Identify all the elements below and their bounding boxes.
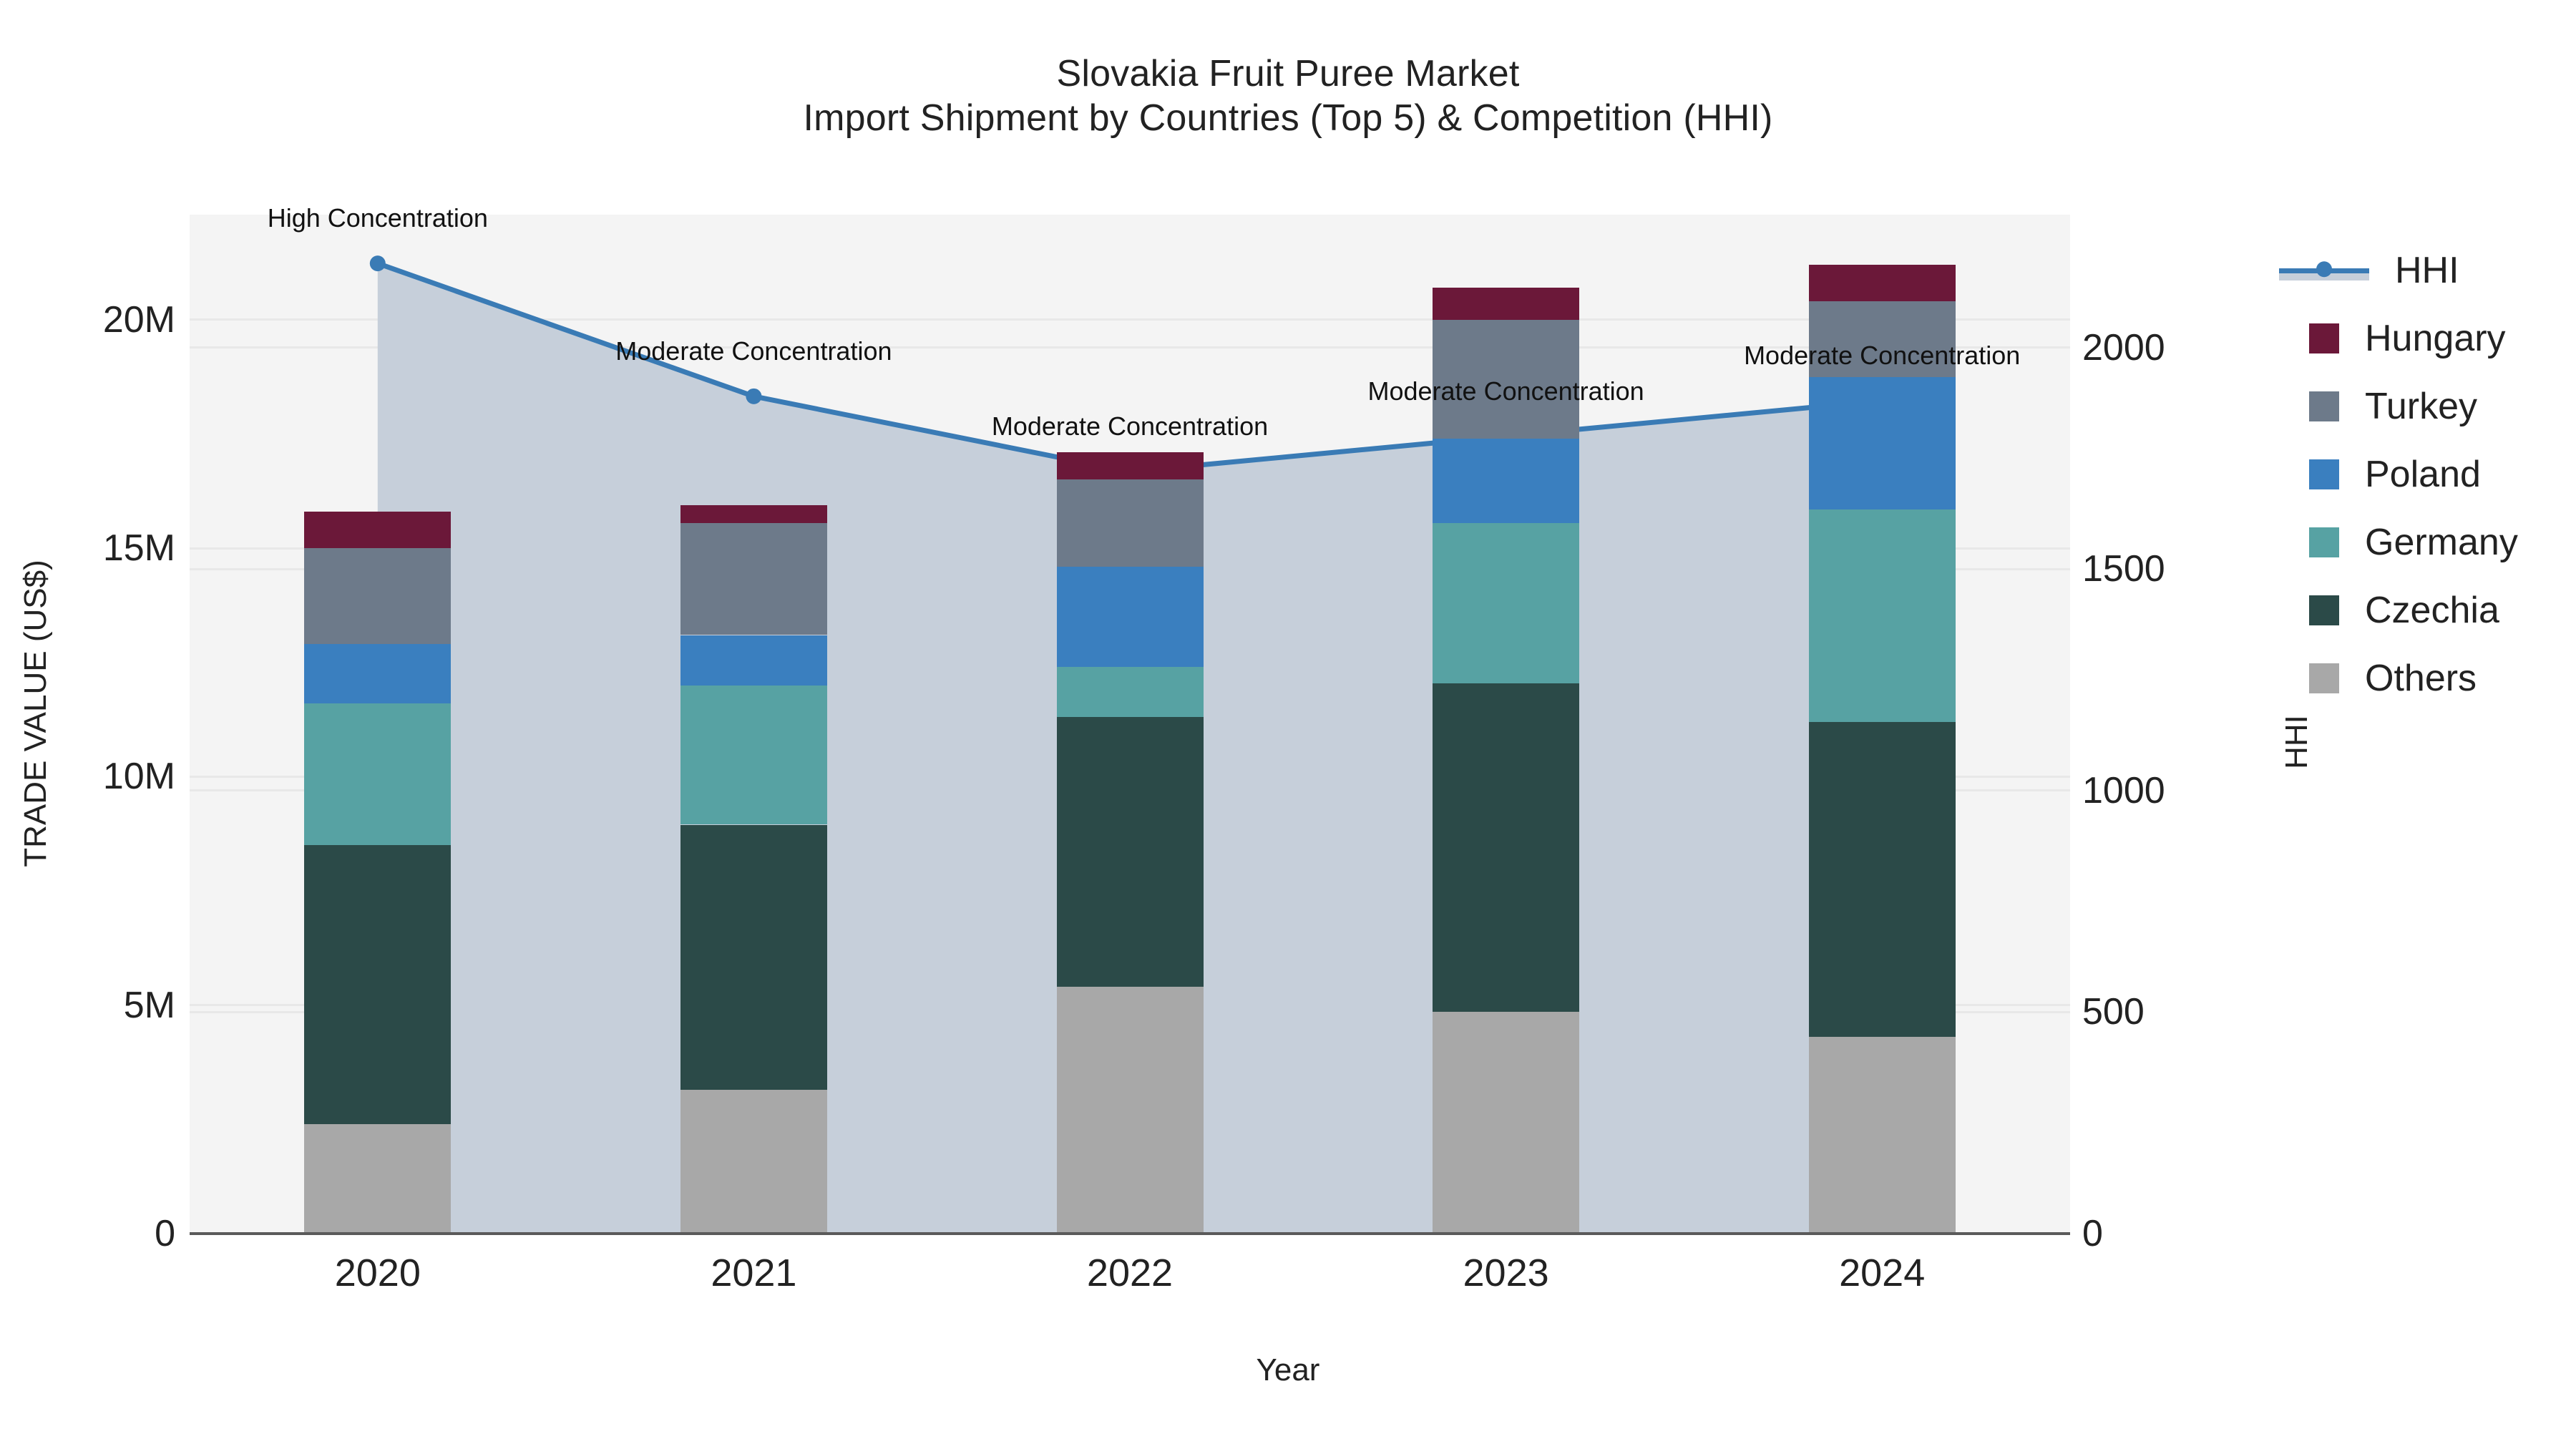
bar-stack-2022[interactable] [1057,215,1204,1234]
bar-segment-poland-2024[interactable] [1809,377,1956,509]
legend-label-poland: Poland [2365,456,2481,493]
x-tick-2021: 2021 [711,1251,796,1295]
y-tick-right-1000: 1000 [2082,769,2165,812]
bar-segment-czechia-2020[interactable] [304,845,451,1124]
bar-segment-germany-2022[interactable] [1057,667,1204,717]
bar-segment-czechia-2021[interactable] [680,825,827,1090]
x-tick-2024: 2024 [1839,1251,1925,1295]
bar-segment-poland-2021[interactable] [680,635,827,686]
bar-segment-czechia-2022[interactable] [1057,717,1204,987]
y-tick-right-500: 500 [2082,990,2145,1033]
y-tick-left-5M: 5M [124,984,175,1027]
bar-stack-2021[interactable] [680,215,827,1234]
bar-segment-poland-2022[interactable] [1057,567,1204,667]
y-axis-left-title: TRADE VALUE (US$) [18,492,54,935]
annotation-2023: Moderate Concentration [1367,376,1644,406]
legend-label-czechia: Czechia [2365,592,2499,629]
bar-segment-poland-2023[interactable] [1433,439,1579,523]
bar-segment-hungary-2020[interactable] [304,512,451,548]
bar-stack-2020[interactable] [304,215,451,1234]
x-tick-2023: 2023 [1463,1251,1549,1295]
chart-title-line-2: Import Shipment by Countries (Top 5) & C… [0,96,2576,140]
legend: HHIHungaryTurkeyPolandGermanyCzechiaOthe… [2279,236,2518,712]
legend-item-turkey[interactable]: Turkey [2279,372,2518,440]
bar-segment-poland-2020[interactable] [304,644,451,703]
x-axis-line [190,1232,2070,1235]
annotation-2024: Moderate Concentration [1744,341,2020,371]
bar-segment-turkey-2021[interactable] [680,523,827,635]
y-tick-right-2000: 2000 [2082,326,2165,369]
y-tick-left-0: 0 [155,1212,175,1255]
bar-segment-others-2023[interactable] [1433,1012,1579,1234]
bar-segment-others-2021[interactable] [680,1090,827,1234]
bar-segment-hungary-2021[interactable] [680,505,827,524]
legend-item-hungary[interactable]: Hungary [2279,304,2518,372]
x-axis-title: Year [0,1352,2576,1388]
bar-segment-germany-2023[interactable] [1433,523,1579,683]
legend-swatch-others-icon [2309,663,2339,693]
annotation-2020: High Concentration [268,203,488,233]
y-tick-left-15M: 15M [103,527,175,570]
bar-segment-others-2024[interactable] [1809,1037,1956,1234]
bar-segment-czechia-2023[interactable] [1433,683,1579,1013]
bar-segment-others-2022[interactable] [1057,987,1204,1234]
bar-segment-czechia-2024[interactable] [1809,722,1956,1038]
annotation-2022: Moderate Concentration [992,411,1268,441]
legend-item-others[interactable]: Others [2279,644,2518,712]
y-tick-right-0: 0 [2082,1212,2103,1255]
bar-segment-hungary-2024[interactable] [1809,265,1956,301]
bar-segment-germany-2024[interactable] [1809,509,1956,722]
bar-segment-turkey-2022[interactable] [1057,479,1204,566]
legend-label-hhi: HHI [2395,252,2459,289]
y-tick-right-1500: 1500 [2082,547,2165,590]
legend-label-others: Others [2365,660,2477,697]
legend-swatch-poland-icon [2309,459,2339,489]
bar-segment-others-2020[interactable] [304,1124,451,1234]
legend-label-germany: Germany [2365,524,2518,561]
legend-swatch-germany-icon [2309,527,2339,557]
annotation-2021: Moderate Concentration [615,336,892,366]
legend-marker-dot-icon [2316,261,2332,277]
legend-swatch-turkey-icon [2309,391,2339,421]
legend-label-hungary: Hungary [2365,320,2506,357]
y-tick-left-20M: 20M [103,298,175,341]
legend-line-icon [2279,255,2369,286]
bar-segment-turkey-2020[interactable] [304,548,451,644]
bar-segment-germany-2020[interactable] [304,703,451,845]
chart-title-line-1: Slovakia Fruit Puree Market [0,52,2576,96]
chart-root: Slovakia Fruit Puree Market Import Shipm… [0,0,2576,1449]
x-tick-2020: 2020 [335,1251,421,1295]
legend-label-turkey: Turkey [2365,388,2477,425]
bar-segment-hungary-2022[interactable] [1057,452,1204,479]
legend-swatch-hungary-icon [2309,323,2339,353]
bar-segment-germany-2021[interactable] [680,686,827,825]
bar-stack-2023[interactable] [1433,215,1579,1234]
legend-item-germany[interactable]: Germany [2279,508,2518,576]
legend-item-poland[interactable]: Poland [2279,440,2518,508]
x-tick-2022: 2022 [1087,1251,1173,1295]
bar-segment-hungary-2023[interactable] [1433,288,1579,320]
y-tick-left-10M: 10M [103,755,175,798]
legend-swatch-czechia-icon [2309,595,2339,625]
legend-item-czechia[interactable]: Czechia [2279,576,2518,644]
legend-item-hhi[interactable]: HHI [2279,236,2518,304]
chart-title: Slovakia Fruit Puree Market Import Shipm… [0,52,2576,141]
